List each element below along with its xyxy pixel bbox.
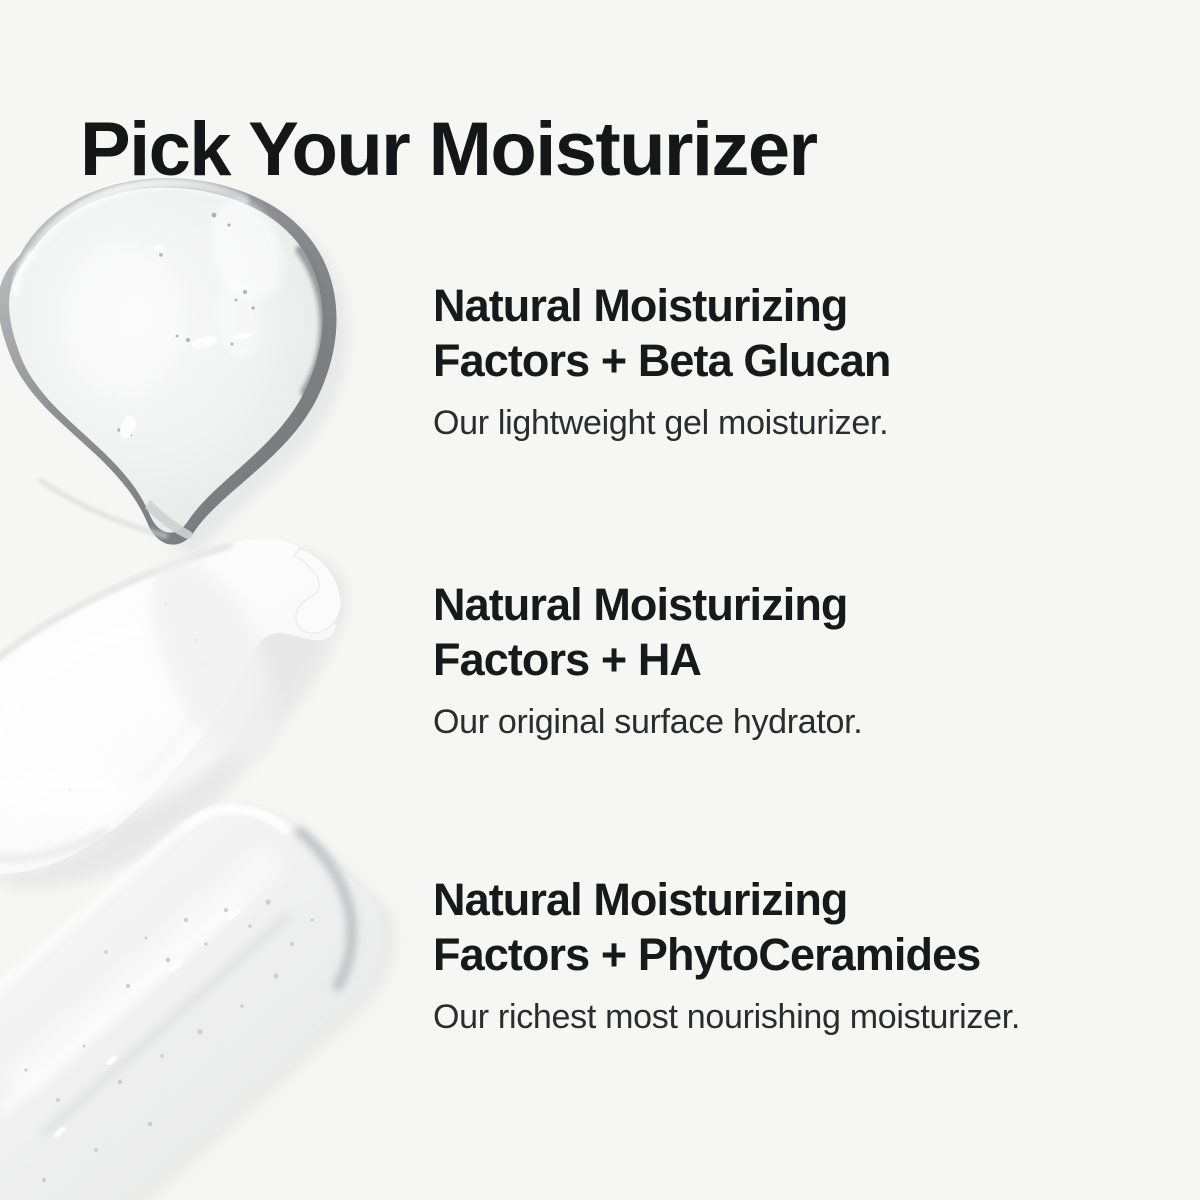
product-description: Our lightweight gel moisturizer. [433, 388, 1133, 444]
product-description: Our richest most nourishing moisturizer. [433, 982, 1133, 1038]
gel-swatch-graphic [0, 178, 348, 554]
product-name: Natural Moisturizing Factors + PhytoCera… [433, 872, 1133, 982]
promo-graphic: Pick Your Moisturizer Natural Moisturizi… [0, 0, 1200, 1200]
product-name: Natural Moisturizing Factors + Beta Gluc… [433, 278, 1133, 388]
product-item-phytoceramides[interactable]: Natural Moisturizing Factors + PhytoCera… [433, 872, 1133, 1038]
product-name: Natural Moisturizing Factors + HA [433, 577, 1133, 687]
rich-cream-swatch-graphic [0, 802, 396, 1200]
product-item-beta-glucan[interactable]: Natural Moisturizing Factors + Beta Gluc… [433, 278, 1133, 444]
page-title: Pick Your Moisturizer [80, 108, 816, 192]
cream-swatch-graphic [0, 539, 348, 892]
product-description: Our original surface hydrator. [433, 687, 1133, 743]
product-item-ha[interactable]: Natural Moisturizing Factors + HA Our or… [433, 577, 1133, 743]
